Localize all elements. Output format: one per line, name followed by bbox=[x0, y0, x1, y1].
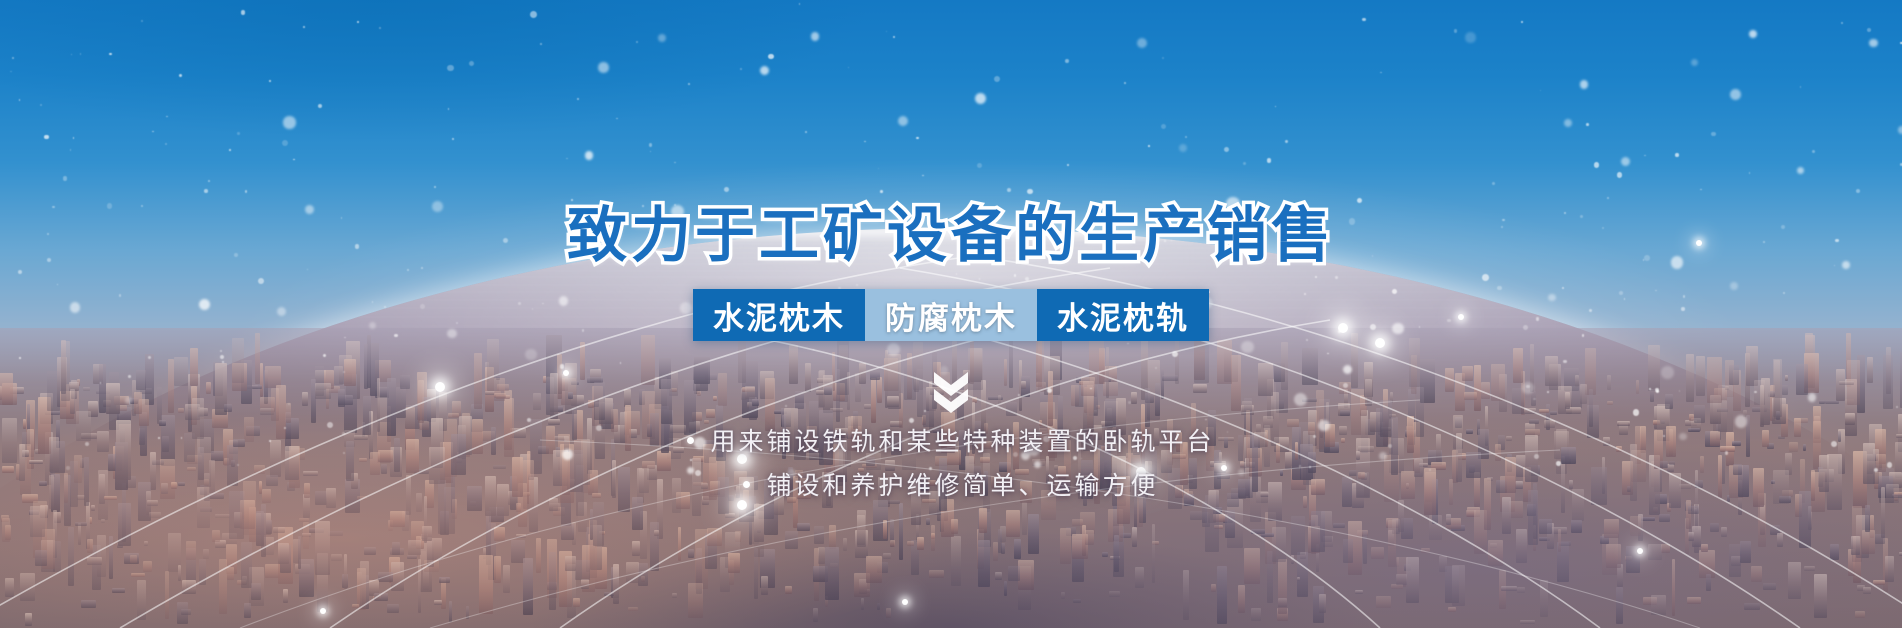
badge-cement-sleeper[interactable]: 水泥枕木 bbox=[693, 289, 865, 341]
list-item-label: 铺设和养护维修简单、运输方便 bbox=[766, 471, 1158, 500]
bullet-dot-icon bbox=[743, 481, 750, 488]
list-item: 铺设和养护维修简单、运输方便 bbox=[0, 464, 1902, 508]
double-chevron-down-icon bbox=[928, 367, 974, 415]
banner-content: 致力于工矿设备的生产销售 水泥枕木 防腐枕木 水泥枕轨 用来铺设铁轨和某些特种装… bbox=[0, 0, 1902, 628]
badge-antiseptic-sleeper[interactable]: 防腐枕木 bbox=[865, 289, 1037, 341]
badge-cement-rail[interactable]: 水泥枕轨 bbox=[1037, 289, 1209, 341]
list-item: 用来铺设铁轨和某些特种装置的卧轨平台 bbox=[0, 420, 1902, 464]
list-item-label: 用来铺设铁轨和某些特种装置的卧轨平台 bbox=[710, 427, 1214, 456]
product-badge-bar: 水泥枕木 防腐枕木 水泥枕轨 bbox=[693, 289, 1209, 341]
feature-list: 用来铺设铁轨和某些特种装置的卧轨平台 铺设和养护维修简单、运输方便 bbox=[0, 420, 1902, 508]
page-title: 致力于工矿设备的生产销售 bbox=[0, 206, 1902, 266]
bullet-dot-icon bbox=[687, 437, 694, 444]
hero-banner: 致力于工矿设备的生产销售 水泥枕木 防腐枕木 水泥枕轨 用来铺设铁轨和某些特种装… bbox=[0, 0, 1902, 628]
